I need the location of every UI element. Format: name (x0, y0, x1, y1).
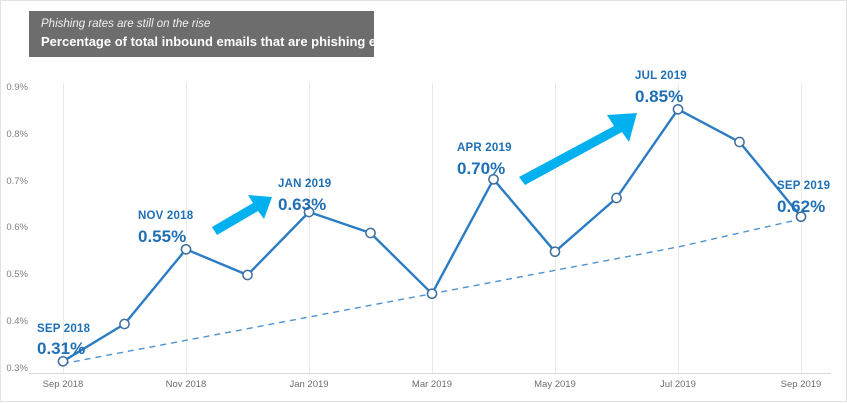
x-tick-label: Nov 2018 (166, 379, 207, 390)
chart-container: Phishing rates are still on the rise Per… (0, 0, 847, 402)
annotation-label: SEP 2018 (37, 323, 91, 335)
annotation-jan-2019: JAN 2019 0.63% (278, 178, 331, 214)
annotation-nov-2018: NOV 2018 0.55% (138, 210, 194, 246)
annotation-label: NOV 2018 (138, 210, 194, 222)
y-tick-label: 0.5% (6, 269, 28, 280)
annotation-sep-2019: SEP 2019 0.62% (777, 180, 830, 216)
y-axis-ticks: 0.9% 0.8% 0.7% 0.6% 0.5% 0.4% 0.3% (6, 82, 28, 374)
x-tick-label: Mar 2019 (412, 379, 452, 390)
data-point-marker[interactable] (427, 289, 436, 298)
annotation-label: JUL 2019 (635, 70, 687, 82)
growth-arrow-2 (519, 113, 637, 185)
annotation-sep-2018: SEP 2018 0.31% (37, 323, 91, 358)
y-tick-label: 0.4% (6, 316, 28, 327)
x-tick-label: May 2019 (534, 379, 576, 390)
data-point-marker[interactable] (120, 319, 129, 328)
annotation-jul-2019: JUL 2019 0.85% (635, 70, 687, 106)
data-point-marker[interactable] (366, 228, 375, 237)
data-point-marker[interactable] (181, 245, 190, 254)
annotation-value: 0.55% (138, 227, 186, 246)
annotation-label: JAN 2019 (278, 178, 331, 190)
x-tick-label: Jul 2019 (660, 379, 696, 390)
y-tick-label: 0.8% (6, 129, 28, 140)
annotation-apr-2019: APR 2019 0.70% (457, 142, 512, 178)
x-axis-ticks: Sep 2018 Nov 2018 Jan 2019 Mar 2019 May … (43, 379, 822, 390)
annotation-label: APR 2019 (457, 142, 512, 154)
y-tick-label: 0.9% (6, 82, 28, 93)
plot-area: 0.9% 0.8% 0.7% 0.6% 0.5% 0.4% 0.3% Sep 2… (1, 1, 847, 403)
data-point-marker[interactable] (243, 270, 252, 279)
growth-arrow-1 (212, 195, 272, 235)
data-point-marker[interactable] (612, 193, 621, 202)
y-tick-label: 0.6% (6, 222, 28, 233)
data-point-marker[interactable] (58, 357, 67, 366)
y-tick-label: 0.3% (6, 363, 28, 374)
y-tick-label: 0.7% (6, 176, 28, 187)
annotation-value: 0.85% (635, 87, 683, 106)
x-tick-label: Jan 2019 (289, 379, 328, 390)
x-tick-label: Sep 2018 (43, 379, 84, 390)
annotation-value: 0.70% (457, 159, 505, 178)
x-tick-label: Sep 2019 (781, 379, 822, 390)
annotation-value: 0.62% (777, 197, 825, 216)
data-point-marker[interactable] (673, 105, 682, 114)
annotation-value: 0.63% (278, 195, 326, 214)
data-point-marker[interactable] (735, 137, 744, 146)
data-point-marker[interactable] (550, 247, 559, 256)
annotation-value: 0.31% (37, 339, 85, 358)
annotation-label: SEP 2019 (777, 180, 830, 192)
